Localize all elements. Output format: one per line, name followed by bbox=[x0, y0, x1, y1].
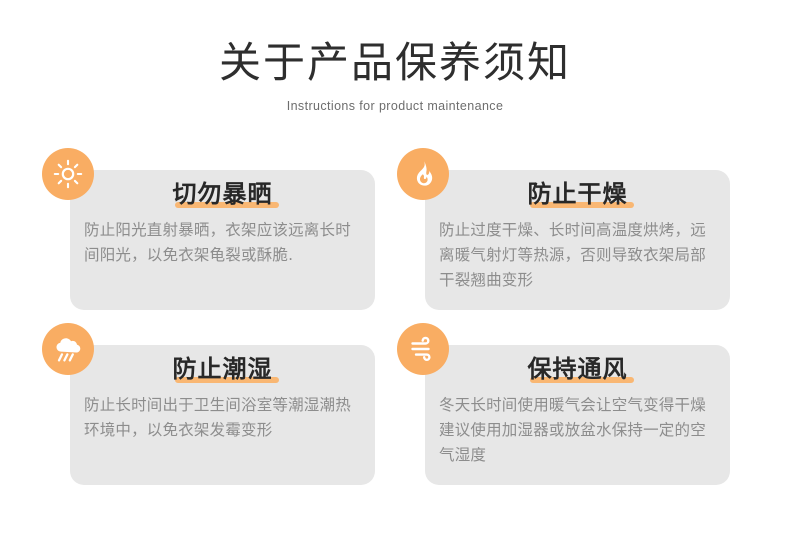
card-heading: 防止干燥 bbox=[528, 178, 628, 210]
card-body-text: 冬天长时间使用暖气会让空气变得干燥建议使用加湿器或放盆水保持一定的空气湿度 bbox=[439, 393, 721, 468]
card-body-text: 防止阳光直射暴晒，衣架应该远离长时间阳光，以免衣架龟裂或酥脆. bbox=[84, 218, 366, 268]
care-tip-card-grid: 切勿暴晒 防止阳光直射暴晒，衣架应该远离长时间阳光，以免衣架龟裂或酥脆. 防止干… bbox=[0, 148, 790, 528]
page-subtitle: Instructions for product maintenance bbox=[0, 88, 790, 114]
card-heading: 切勿暴晒 bbox=[173, 178, 273, 210]
card-body-text: 防止过度干燥、长时间高温度烘烤，远离暖气射灯等热源，否则导致衣架局部干裂翘曲变形 bbox=[439, 218, 721, 293]
card-heading-container: 保持通风 bbox=[425, 353, 730, 385]
card-body-text: 防止长时间出于卫生间浴室等潮湿潮热环境中，以免衣架发霉变形 bbox=[84, 393, 366, 443]
maintenance-instructions-page: 关于产品保养须知 Instructions for product mainte… bbox=[0, 0, 790, 545]
card-heading: 防止潮湿 bbox=[173, 353, 273, 385]
care-tip-card: 切勿暴晒 防止阳光直射暴晒，衣架应该远离长时间阳光，以免衣架龟裂或酥脆. bbox=[70, 170, 375, 310]
care-tip-card: 保持通风 冬天长时间使用暖气会让空气变得干燥建议使用加湿器或放盆水保持一定的空气… bbox=[425, 345, 730, 485]
card-heading-container: 防止潮湿 bbox=[70, 353, 375, 385]
care-tip-card: 防止干燥 防止过度干燥、长时间高温度烘烤，远离暖气射灯等热源，否则导致衣架局部干… bbox=[425, 170, 730, 310]
care-tip-card: 防止潮湿 防止长时间出于卫生间浴室等潮湿潮热环境中，以免衣架发霉变形 bbox=[70, 345, 375, 485]
page-header: 关于产品保养须知 Instructions for product mainte… bbox=[0, 0, 790, 114]
card-heading-container: 防止干燥 bbox=[425, 178, 730, 210]
card-heading: 保持通风 bbox=[528, 353, 628, 385]
card-heading-container: 切勿暴晒 bbox=[70, 178, 375, 210]
page-title: 关于产品保养须知 bbox=[0, 0, 790, 88]
